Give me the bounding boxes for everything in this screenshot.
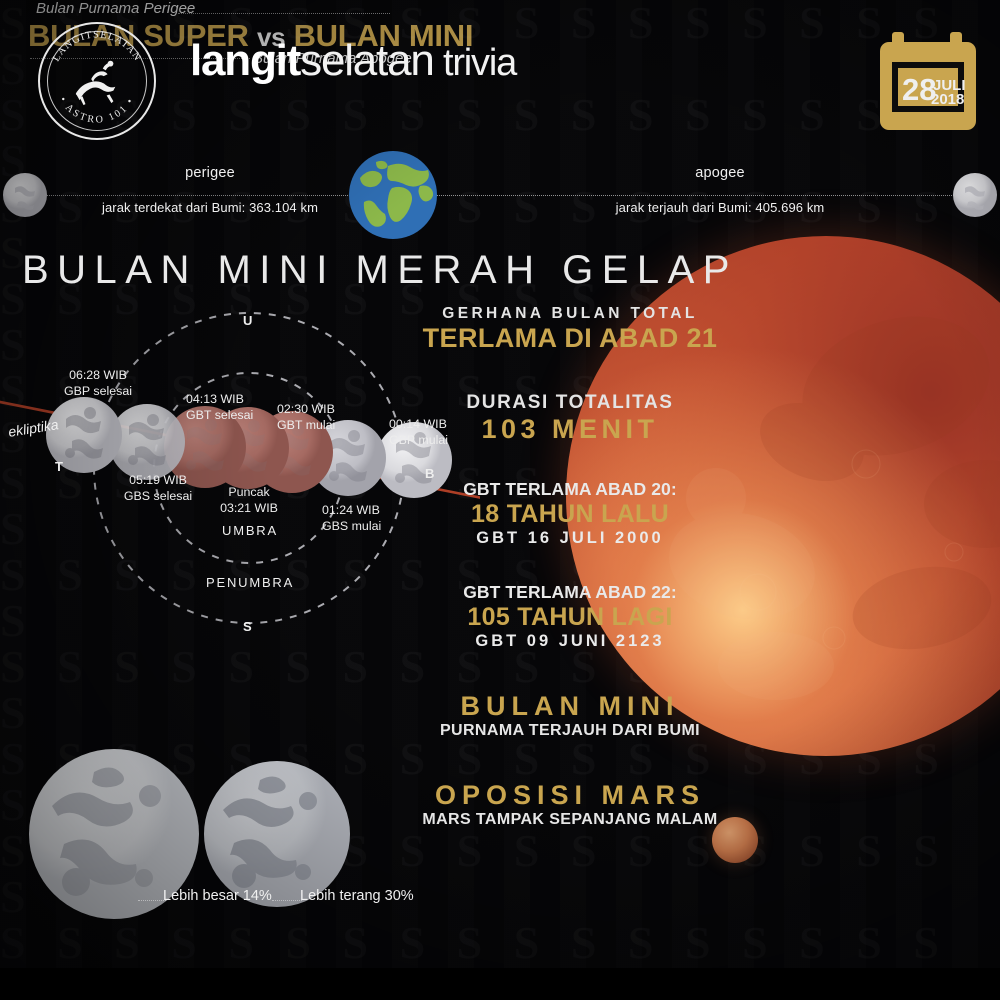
horse-rider-icon [68, 55, 126, 107]
earth-icon [348, 150, 438, 240]
apogee-moon-icon [952, 172, 998, 218]
wordmark-bold: langit [190, 36, 300, 85]
footer-bottom-bar [0, 968, 1000, 1000]
eclipse-title: TERLAMA DI ABAD 21 [400, 323, 740, 354]
century20-value: 18 TAHUN LALU [400, 500, 740, 529]
mars-title: OPOSISI MARS [400, 780, 740, 811]
century22-label: GBT TERLAMA ABAD 22: [400, 582, 740, 603]
perigee-title: perigee [110, 165, 310, 181]
minimoon-title: BULAN MINI [400, 691, 740, 722]
cardinal-south: S [243, 619, 253, 634]
apogee-distance: jarak terjauh dari Bumi: 405.696 km [565, 200, 875, 215]
wordmark: langitselatan trivia [190, 36, 516, 86]
eclipse-kicker: GERHANA BULAN TOTAL [400, 305, 740, 323]
event-name: GBT mulai [277, 418, 335, 434]
cardinal-east: T [55, 459, 65, 474]
caption-dots-right [272, 900, 302, 901]
caption-dots-left [138, 900, 166, 901]
duration-label: DURASI TOTALITAS [400, 392, 740, 414]
perigee-moon-icon [2, 172, 48, 218]
century22-date: GBT 09 JUNI 2123 [400, 632, 740, 651]
umbra-label: UMBRA [222, 523, 278, 538]
peak-title: Puncak [194, 485, 304, 501]
perigee-distance-line [44, 195, 354, 196]
event-name: GBP selesai [43, 384, 153, 400]
apogee-title: apogee [620, 165, 820, 181]
langitselatan-logo: LANGITSELATAN • ASTRO 101 • [38, 22, 156, 140]
penumbra-label: PENUMBRA [206, 575, 294, 590]
wordmark-light: selatan [300, 36, 433, 85]
apogee-distance-line [436, 195, 956, 196]
wordmark-trivia: trivia [434, 42, 516, 84]
duration-value: 103 MENIT [400, 414, 740, 445]
event-name: GBS mulai [322, 519, 381, 535]
event-name: GBT selesai [186, 408, 253, 424]
calendar-badge: 28 JULI 2018 28 JULI 2018 [878, 28, 978, 132]
caption-bigger-percent: Lebih besar 14% [163, 888, 272, 904]
caption-brighter-percent: Lebih terang 30% [300, 888, 414, 904]
century20-label: GBT TERLAMA ABAD 20: [400, 479, 740, 500]
stats-column: GERHANA BULAN TOTAL TERLAMA DI ABAD 21 D… [400, 305, 740, 829]
event-label-gbt-mulai: 02:30 WIB GBT mulai [277, 402, 335, 433]
event-time: 01:24 WIB [322, 503, 381, 519]
peak-time: 03:21 WIB [194, 501, 304, 517]
event-label-gbp-selesai: 06:28 WIB GBP selesai [43, 368, 153, 399]
event-time: 04:13 WIB [186, 392, 253, 408]
event-time: 02:30 WIB [277, 402, 335, 418]
mini-moon-illustration [203, 760, 351, 908]
event-label-gbt-selesai: 04:13 WIB GBT selesai [186, 392, 253, 423]
minimoon-subtitle: PURNAMA TERJAUH DARI BUMI [400, 722, 740, 740]
century22-value: 105 TAHUN LAGI [400, 603, 740, 632]
event-label-gbs-mulai: 01:24 WIB GBS mulai [322, 503, 381, 534]
perigee-distance: jarak terdekat dari Bumi: 363.104 km [55, 200, 365, 215]
event-time: 06:28 WIB [43, 368, 153, 384]
century20-date: GBT 16 JULI 2000 [400, 529, 740, 548]
svg-text:2018: 2018 [931, 91, 964, 108]
cardinal-north: U [243, 313, 254, 328]
page-title: BULAN MINI MERAH GELAP [0, 248, 760, 293]
eclipse-peak-label: Puncak 03:21 WIB [194, 485, 304, 516]
mars-subtitle: MARS TAMPAK SEPANJANG MALAM [400, 811, 740, 829]
